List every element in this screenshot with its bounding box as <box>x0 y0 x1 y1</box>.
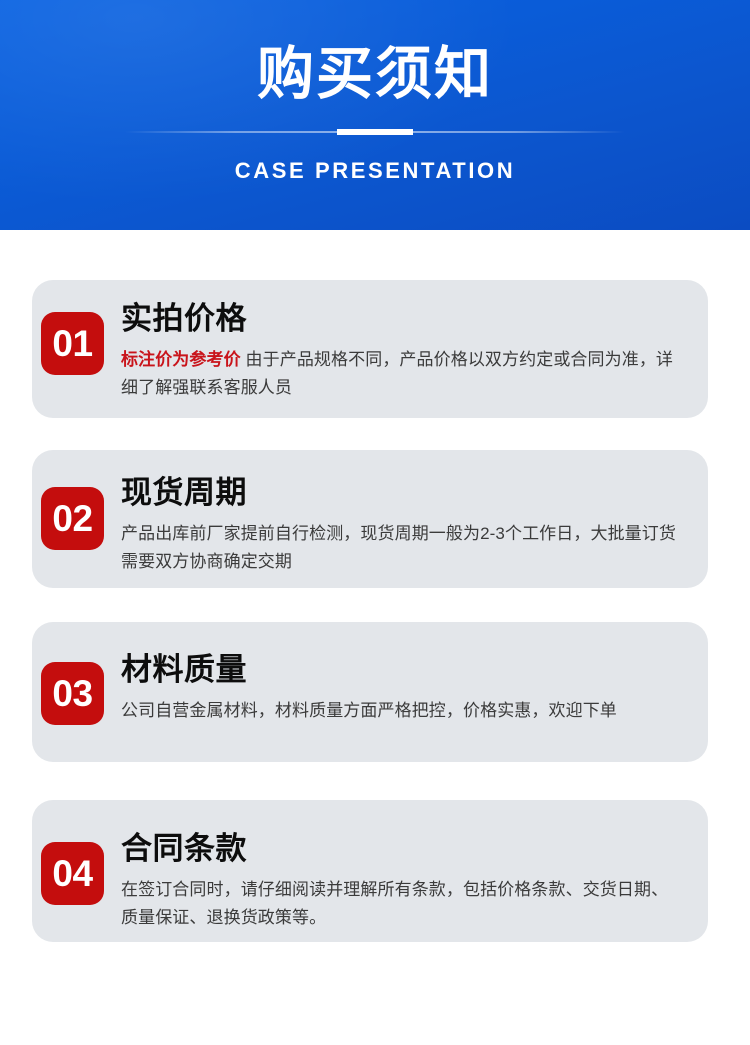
title-divider <box>0 124 750 140</box>
banner-sheen-overlay <box>0 0 750 230</box>
card-title: 合同条款 <box>121 828 684 870</box>
page-header-banner: 购买须知 CASE PRESENTATION <box>0 0 750 230</box>
card-number-badge: 01 <box>41 312 104 375</box>
card-description-text: 产品出库前厂家提前自行检测，现货周期一般为2-3个工作日，大批量订货需要双方协商… <box>121 524 676 571</box>
card-description-text: 在签订合同时，请仔细阅读并理解所有条款，包括价格条款、交货日期、质量保证、退换货… <box>121 880 668 927</box>
card-title: 实拍价格 <box>121 298 684 340</box>
page-title: 购买须知 <box>0 38 750 110</box>
card-description: 公司自营金属材料，材料质量方面严格把控，价格实惠，欢迎下单 <box>121 697 684 725</box>
card-description-text: 公司自营金属材料，材料质量方面严格把控，价格实惠，欢迎下单 <box>121 701 617 720</box>
card-description: 标注价为参考价 由于产品规格不同，产品价格以双方约定或合同为准，详细了解强联系客… <box>121 346 684 402</box>
card-description: 产品出库前厂家提前自行检测，现货周期一般为2-3个工作日，大批量订货需要双方协商… <box>121 520 684 576</box>
card-number-badge: 02 <box>41 487 104 550</box>
notice-card: 02 现货周期 产品出库前厂家提前自行检测，现货周期一般为2-3个工作日，大批量… <box>32 450 708 588</box>
notice-card: 03 材料质量 公司自营金属材料，材料质量方面严格把控，价格实惠，欢迎下单 <box>32 622 708 762</box>
divider-center-tab <box>337 129 413 135</box>
card-description-highlight: 标注价为参考价 <box>121 350 241 369</box>
page-subtitle: CASE PRESENTATION <box>0 155 750 187</box>
card-title: 材料质量 <box>121 649 684 691</box>
card-content: 现货周期 产品出库前厂家提前自行检测，现货周期一般为2-3个工作日，大批量订货需… <box>121 472 684 576</box>
card-description: 在签订合同时，请仔细阅读并理解所有条款，包括价格条款、交货日期、质量保证、退换货… <box>121 876 684 932</box>
card-number-badge: 04 <box>41 842 104 905</box>
card-content: 合同条款 在签订合同时，请仔细阅读并理解所有条款，包括价格条款、交货日期、质量保… <box>121 828 684 932</box>
notice-card: 01 实拍价格 标注价为参考价 由于产品规格不同，产品价格以双方约定或合同为准，… <box>32 280 708 418</box>
card-content: 实拍价格 标注价为参考价 由于产品规格不同，产品价格以双方约定或合同为准，详细了… <box>121 298 684 402</box>
card-title: 现货周期 <box>121 472 684 514</box>
card-content: 材料质量 公司自营金属材料，材料质量方面严格把控，价格实惠，欢迎下单 <box>121 649 684 725</box>
notice-card: 04 合同条款 在签订合同时，请仔细阅读并理解所有条款，包括价格条款、交货日期、… <box>32 800 708 942</box>
card-number-badge: 03 <box>41 662 104 725</box>
